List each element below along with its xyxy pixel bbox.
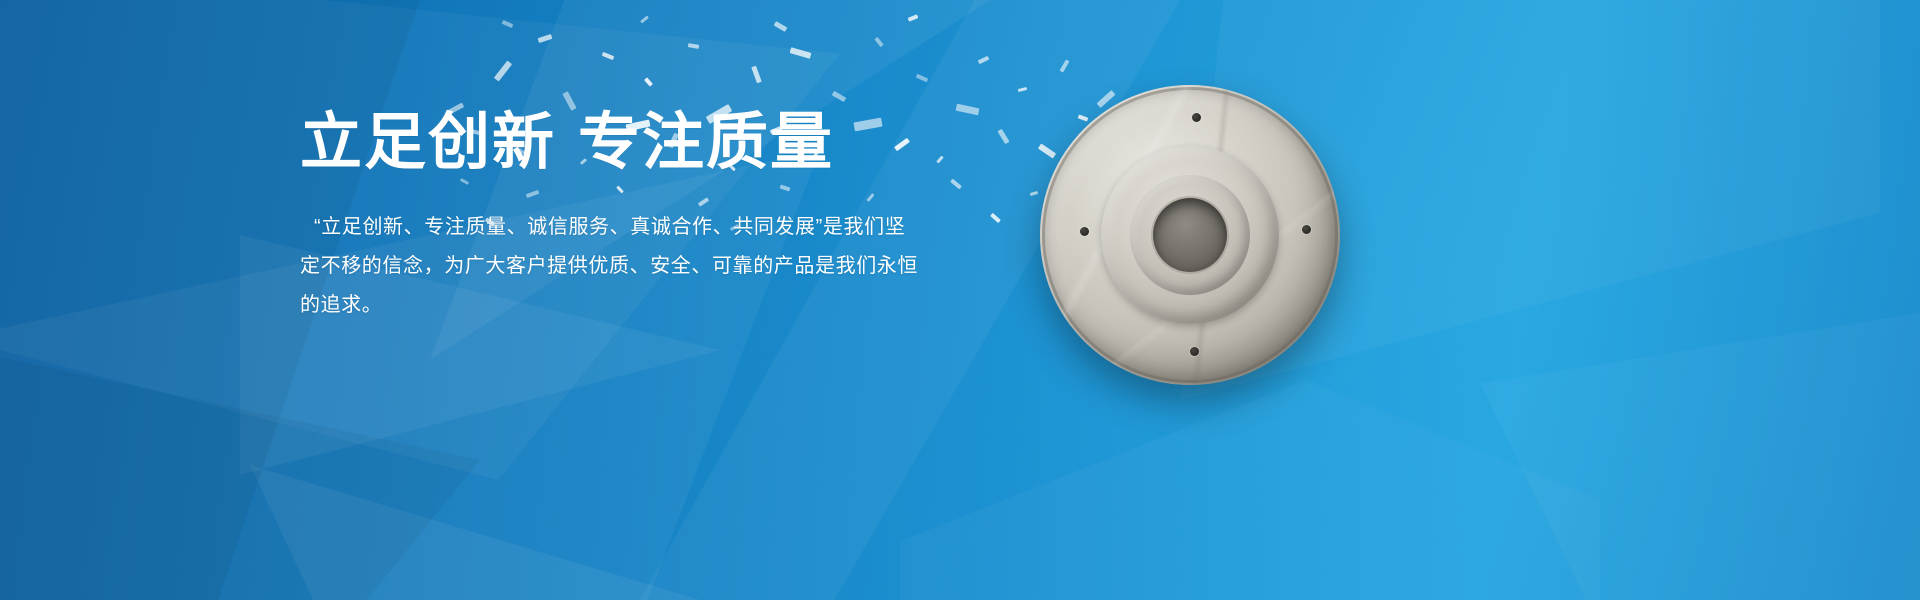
- flange-bolt-hole-left: [1080, 227, 1089, 236]
- paragraph-line-3: 的追求。: [300, 286, 940, 325]
- flange-center-bore: [1153, 198, 1227, 272]
- flange-bolt-hole-bottom: [1190, 347, 1199, 356]
- paragraph-line-1: “立足创新、专注质量、诚信服务、真诚合作、共同发展”是我们坚: [300, 208, 940, 247]
- copy-block: 立足创新专注质量 “立足创新、专注质量、诚信服务、真诚合作、共同发展”是我们坚 …: [0, 0, 980, 600]
- product-image-metal-flange: [1040, 85, 1340, 385]
- headline-part-1: 立足创新: [300, 108, 556, 177]
- flange-bolt-hole-right: [1302, 225, 1311, 234]
- hero-banner: 立足创新专注质量 “立足创新、专注质量、诚信服务、真诚合作、共同发展”是我们坚 …: [0, 0, 1920, 600]
- banner-paragraph: “立足创新、专注质量、诚信服务、真诚合作、共同发展”是我们坚 定不移的信念，为广…: [300, 208, 940, 325]
- headline-part-2: 专注质量: [578, 108, 834, 177]
- paragraph-line-2: 定不移的信念，为广大客户提供优质、安全、可靠的产品是我们永恒: [300, 247, 940, 286]
- banner-headline: 立足创新专注质量: [300, 112, 920, 174]
- flange-bolt-hole-top: [1192, 113, 1201, 122]
